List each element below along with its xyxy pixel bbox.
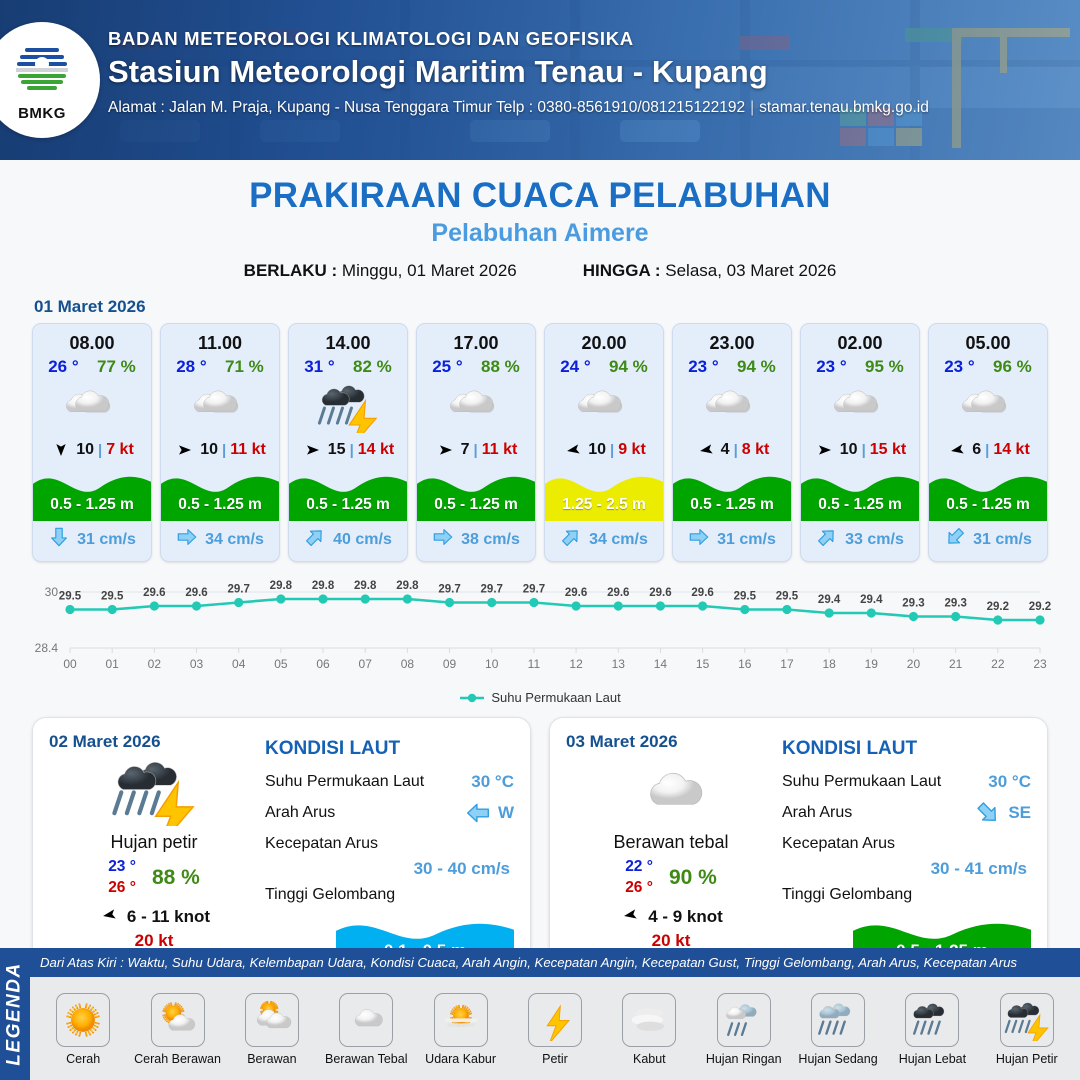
data-label: 29.8 — [396, 580, 419, 592]
data-label: 29.7 — [523, 584, 545, 596]
card-current: 31 cm/s — [929, 521, 1047, 561]
sea-row-value: W — [498, 803, 514, 823]
legend-icon-box — [434, 993, 488, 1047]
card-weather-icon — [673, 379, 791, 435]
legend-caption: Berawan Tebal — [325, 1052, 407, 1066]
address-line: Alamat : Jalan M. Praja, Kupang - Nusa T… — [108, 99, 929, 117]
sea-row-label: Tinggi Gelombang — [265, 886, 514, 904]
card-temp-humidity: 28 ° 71 % — [161, 357, 279, 379]
validity-row: BERLAKU : Minggu, 01 Maret 2026 HINGGA :… — [0, 261, 1080, 281]
data-label: 29.5 — [776, 591, 799, 603]
card-gust: 14 kt — [993, 441, 1029, 459]
card-weather-icon — [801, 379, 919, 435]
day-wind-range: 6 - 11 knot — [127, 907, 210, 927]
sea-condition-row: Tinggi Gelombang — [265, 879, 514, 910]
lightning-icon — [532, 999, 578, 1041]
data-label: 29.3 — [902, 598, 924, 610]
legend-marker-icon — [459, 693, 485, 703]
data-label: 29.5 — [59, 591, 82, 603]
sst-chart: 3028.40001020304050607080910111213141516… — [0, 576, 1080, 686]
card-temperature: 23 ° — [688, 357, 718, 377]
thunderstorm-icon — [111, 756, 197, 826]
wind-direction-icon — [695, 442, 717, 458]
legend-item: Berawan — [229, 993, 315, 1066]
x-tick-label: 06 — [316, 657, 330, 671]
port-name: Pelabuhan Aimere — [0, 219, 1080, 248]
wind-direction-icon — [174, 442, 196, 458]
forecast-card[interactable]: 20.00 24 ° 94 % — [544, 323, 664, 562]
wind-direction-icon — [946, 442, 968, 458]
sea-row-value-arrow: W — [465, 800, 514, 826]
cloudy-icon — [445, 381, 507, 433]
sea-row-value-arrow: SE — [975, 800, 1031, 826]
card-temperature: 23 ° — [944, 357, 974, 377]
card-current-dir — [560, 526, 582, 553]
card-current-speed: 31 cm/s — [973, 531, 1032, 549]
legend-item: Cerah Berawan — [135, 993, 221, 1066]
sea-row-label: Tinggi Gelombang — [782, 886, 1031, 904]
legend-icon-box — [528, 993, 582, 1047]
light-rain-icon — [721, 999, 767, 1041]
card-wind-separator: | — [985, 442, 989, 459]
forecast-card[interactable]: 11.00 28 ° 71 % — [160, 323, 280, 562]
legend-item: Petir — [512, 993, 598, 1066]
legend-item: Hujan Petir — [984, 993, 1070, 1066]
legend-sidebar-label: LEGENDA — [4, 962, 26, 1065]
card-current-dir — [688, 526, 710, 553]
sea-condition-row: Tinggi Gelombang — [782, 879, 1031, 910]
card-current-speed: 31 cm/s — [717, 531, 776, 549]
valid-from-value: Minggu, 01 Maret 2026 — [342, 261, 517, 280]
card-current: 31 cm/s — [673, 521, 791, 561]
card-wind-speed: 10 — [76, 441, 94, 459]
x-tick-label: 21 — [949, 657, 963, 671]
card-gust: 11 kt — [230, 441, 266, 459]
day-temp-max: 26 ° — [625, 878, 653, 899]
x-tick-label: 22 — [991, 657, 1005, 671]
card-wind: 10 | 15 kt — [801, 435, 919, 463]
data-label: 29.6 — [143, 587, 165, 599]
day-humidity: 88 % — [152, 866, 200, 890]
sea-condition-row: Kecepatan Arus — [265, 828, 514, 859]
x-tick-label: 18 — [822, 657, 836, 671]
forecast-card[interactable]: 02.00 23 ° 95 % — [800, 323, 920, 562]
sea-condition-row: Kecepatan Arus — [782, 828, 1031, 859]
sea-row-value: SE — [1008, 803, 1031, 823]
card-current-dir — [816, 526, 838, 553]
current-direction-icon — [432, 526, 454, 548]
address-text: Alamat : Jalan M. Praja, Kupang - Nusa T… — [108, 99, 745, 116]
data-label: 29.7 — [228, 584, 250, 596]
card-gust: 9 kt — [618, 441, 646, 459]
page-header: BMKG BADAN METEOROLOGI KLIMATOLOGI DAN G… — [0, 0, 1080, 160]
x-tick-label: 05 — [274, 657, 288, 671]
current-direction-icon — [560, 526, 582, 548]
sea-condition-row: Suhu Permukaan Laut 30 °C — [782, 766, 1031, 797]
x-tick-label: 07 — [359, 657, 373, 671]
legend-caption: Berawan — [247, 1052, 296, 1066]
card-wave-height: 0.5 - 1.25 m — [673, 496, 791, 514]
legend-icon-box — [622, 993, 676, 1047]
day-summary: 03 Maret 2026 Berawan tebal — [566, 732, 776, 956]
card-wind-speed: 6 — [972, 441, 981, 459]
card-time: 11.00 — [161, 324, 279, 357]
card-weather-icon — [929, 379, 1047, 435]
cloudy-icon — [573, 381, 635, 433]
day-date: 03 Maret 2026 — [566, 732, 678, 752]
day-wind-range: 4 - 9 knot — [648, 907, 723, 927]
card-wind-dir — [302, 442, 324, 458]
day-wind: 6 - 11 knot — [98, 907, 210, 928]
card-wind: 10 | 7 kt — [33, 435, 151, 463]
card-wind-separator: | — [350, 442, 354, 459]
current-direction-icon — [176, 526, 198, 548]
current-direction-icon — [48, 526, 70, 548]
legend-caption: Hujan Sedang — [798, 1052, 877, 1066]
legend-section: LEGENDA Dari Atas Kiri : Waktu, Suhu Uda… — [0, 948, 1080, 1080]
card-wind-separator: | — [734, 442, 738, 459]
card-temp-humidity: 24 ° 94 % — [545, 357, 663, 379]
card-wind-separator: | — [610, 442, 614, 459]
card-current-speed: 38 cm/s — [461, 531, 520, 549]
legend-icon-box — [151, 993, 205, 1047]
day-temp-max: 26 ° — [108, 878, 136, 899]
data-label: 29.6 — [185, 587, 207, 599]
card-wind: 15 | 14 kt — [289, 435, 407, 463]
legend-icon-box — [811, 993, 865, 1047]
card-gust: 8 kt — [742, 441, 770, 459]
cloudy-icon — [701, 381, 763, 433]
heavy-rain-icon — [909, 999, 955, 1041]
data-label: 29.2 — [987, 601, 1009, 613]
card-wave: 1.25 - 2.5 m — [545, 463, 663, 521]
legend-item: Hujan Ringan — [701, 993, 787, 1066]
sun-small-cloud-icon — [155, 999, 201, 1041]
card-current-dir — [432, 526, 454, 553]
wind-direction-icon — [50, 442, 72, 458]
cloudy-icon — [829, 381, 891, 433]
card-wave: 0.5 - 1.25 m — [33, 463, 151, 521]
x-tick-label: 19 — [865, 657, 879, 671]
card-wind-dir — [695, 442, 717, 458]
x-tick-label: 12 — [569, 657, 583, 671]
card-temp-humidity: 31 ° 82 % — [289, 357, 407, 379]
card-temperature: 28 ° — [176, 357, 206, 377]
card-temperature: 24 ° — [560, 357, 590, 377]
card-temperature: 25 ° — [432, 357, 462, 377]
logo-label: BMKG — [18, 105, 66, 122]
card-humidity: 71 % — [225, 357, 264, 377]
data-label: 29.7 — [438, 584, 460, 596]
card-wave-height: 0.5 - 1.25 m — [33, 496, 151, 514]
sun-cloud-icon — [249, 999, 295, 1041]
card-time: 02.00 — [801, 324, 919, 357]
header-text-block: BADAN METEOROLOGI KLIMATOLOGI DAN GEOFIS… — [108, 28, 929, 117]
data-label: 29.4 — [818, 594, 841, 606]
legend-caption: Cerah — [66, 1052, 100, 1066]
card-wind: 10 | 11 kt — [161, 435, 279, 463]
card-time: 05.00 — [929, 324, 1047, 357]
sea-conditions-title: KONDISI LAUT — [782, 738, 1031, 760]
daily-forecast-card[interactable]: 02 Maret 2026 Hujan petir — [32, 717, 531, 969]
wind-direction-icon — [814, 442, 836, 458]
x-tick-label: 15 — [696, 657, 710, 671]
card-wind-speed: 10 — [200, 441, 218, 459]
day-wind-dir — [98, 907, 120, 928]
data-label: 29.8 — [312, 580, 335, 592]
card-temperature: 23 ° — [816, 357, 846, 377]
sun-icon — [60, 999, 106, 1041]
card-temp-humidity: 23 ° 94 % — [673, 357, 791, 379]
sea-row-label: Arah Arus — [265, 804, 465, 822]
current-direction-icon — [944, 526, 966, 548]
card-current-dir — [304, 526, 326, 553]
sea-row-label: Suhu Permukaan Laut — [782, 773, 988, 791]
data-label: 29.5 — [101, 591, 124, 603]
forecast-card[interactable]: 14.00 31 ° 82 % — [288, 323, 408, 562]
card-humidity: 77 % — [97, 357, 136, 377]
wind-direction-icon — [562, 442, 584, 458]
card-current-speed: 33 cm/s — [845, 531, 904, 549]
current-direction-icon — [304, 526, 326, 548]
day-temps: 22 ° 26 ° — [625, 857, 653, 899]
card-current: 33 cm/s — [801, 521, 919, 561]
card-wind-separator: | — [862, 442, 866, 459]
moderate-rain-icon — [815, 999, 861, 1041]
sea-condition-row: Arah Arus W — [265, 797, 514, 828]
card-wind-separator: | — [222, 442, 226, 459]
day-wind-dir — [619, 907, 641, 928]
card-wave: 0.5 - 1.25 m — [801, 463, 919, 521]
card-wind: 4 | 8 kt — [673, 435, 791, 463]
legend-caption: Hujan Lebat — [899, 1052, 966, 1066]
legend-caption: Hujan Petir — [996, 1052, 1058, 1066]
card-wave: 0.5 - 1.25 m — [161, 463, 279, 521]
sea-current-speed: 30 - 41 cm/s — [782, 859, 1031, 879]
daily-forecast-row: 02 Maret 2026 Hujan petir — [0, 705, 1080, 969]
card-wave-height: 0.5 - 1.25 m — [289, 496, 407, 514]
wind-direction-icon — [98, 907, 120, 923]
day-temp-min: 23 ° — [108, 857, 136, 878]
card-time: 17.00 — [417, 324, 535, 357]
card-wave: 0.5 - 1.25 m — [289, 463, 407, 521]
legend-caption: Hujan Ringan — [706, 1052, 782, 1066]
chart-legend: Suhu Permukaan Laut — [0, 690, 1080, 705]
card-wave-height: 0.5 - 1.25 m — [417, 496, 535, 514]
x-tick-label: 16 — [738, 657, 752, 671]
wind-direction-icon — [619, 907, 641, 923]
card-current-dir — [176, 526, 198, 553]
x-tick-label: 09 — [443, 657, 457, 671]
x-tick-label: 20 — [907, 657, 921, 671]
card-wind-separator: | — [474, 442, 478, 459]
forecast-card[interactable]: 08.00 26 ° 77 % — [32, 323, 152, 562]
title-section: PRAKIRAAN CUACA PELABUHAN Pelabuhan Aime… — [0, 160, 1080, 281]
legend-items: Cerah Cerah Berawan — [30, 977, 1080, 1080]
card-current-speed: 34 cm/s — [205, 531, 264, 549]
card-wave-height: 0.5 - 1.25 m — [801, 496, 919, 514]
card-wave-height: 1.25 - 2.5 m — [545, 496, 663, 514]
sea-current-speed: 30 - 40 cm/s — [265, 859, 514, 879]
card-weather-icon — [545, 379, 663, 435]
x-tick-label: 04 — [232, 657, 246, 671]
x-tick-label: 01 — [105, 657, 119, 671]
card-humidity: 95 % — [865, 357, 904, 377]
card-wave-height: 0.5 - 1.25 m — [161, 496, 279, 514]
card-wind-speed: 7 — [461, 441, 470, 459]
y-tick-max: 30 — [45, 585, 59, 599]
card-wind: 7 | 11 kt — [417, 435, 535, 463]
legend-item: Hujan Sedang — [795, 993, 881, 1066]
agency-name: BADAN METEOROLOGI KLIMATOLOGI DAN GEOFIS… — [108, 28, 929, 50]
card-temp-humidity: 25 ° 88 % — [417, 357, 535, 379]
forecast-card[interactable]: 05.00 23 ° 96 % — [928, 323, 1048, 562]
card-temp-humidity: 23 ° 95 % — [801, 357, 919, 379]
legend-note: Dari Atas Kiri : Waktu, Suhu Udara, Kele… — [30, 948, 1080, 977]
legend-item: Berawan Tebal — [323, 993, 409, 1066]
card-temp-humidity: 26 ° 77 % — [33, 357, 151, 379]
day-humidity: 90 % — [669, 866, 717, 890]
legend-icon-box — [905, 993, 959, 1047]
x-tick-label: 00 — [63, 657, 77, 671]
haze-icon — [438, 999, 484, 1041]
data-label: 29.8 — [354, 580, 377, 592]
data-label: 29.6 — [565, 587, 587, 599]
day-date: 02 Maret 2026 — [49, 732, 161, 752]
current-direction-icon — [975, 800, 1001, 826]
card-time: 23.00 — [673, 324, 791, 357]
card-wind-dir — [50, 442, 72, 458]
legend-caption: Cerah Berawan — [134, 1052, 221, 1066]
day-condition: Berawan tebal — [613, 832, 728, 853]
card-gust: 7 kt — [106, 441, 134, 459]
sea-row-label: Suhu Permukaan Laut — [265, 773, 471, 791]
day-summary: 02 Maret 2026 Hujan petir — [49, 732, 259, 956]
card-humidity: 96 % — [993, 357, 1032, 377]
legend-icon-box — [245, 993, 299, 1047]
day-temps: 23 ° 26 ° — [108, 857, 136, 899]
legend-item: Cerah — [40, 993, 126, 1066]
card-wind-dir — [814, 442, 836, 458]
legend-item: Hujan Lebat — [889, 993, 975, 1066]
card-current-dir — [944, 526, 966, 553]
card-wind-separator: | — [98, 442, 102, 459]
legend-item: Udara Kabur — [418, 993, 504, 1066]
card-gust: 15 kt — [870, 441, 906, 459]
hourly-date-label: 01 Maret 2026 — [34, 297, 1080, 317]
day-weather-icon — [628, 754, 714, 828]
x-tick-label: 02 — [148, 657, 162, 671]
x-tick-label: 10 — [485, 657, 499, 671]
data-label: 29.2 — [1029, 601, 1051, 613]
card-gust: 11 kt — [482, 441, 518, 459]
card-humidity: 88 % — [481, 357, 520, 377]
card-current-speed: 40 cm/s — [333, 531, 392, 549]
valid-from: BERLAKU : Minggu, 01 Maret 2026 — [244, 261, 517, 281]
x-tick-label: 23 — [1033, 657, 1047, 671]
card-gust: 14 kt — [358, 441, 394, 459]
chart-legend-label: Suhu Permukaan Laut — [491, 690, 620, 705]
card-current-speed: 31 cm/s — [77, 531, 136, 549]
day-temp-min: 22 ° — [625, 857, 653, 878]
fog-icon — [626, 999, 672, 1041]
sea-conditions: KONDISI LAUT Suhu Permukaan Laut 30 °C A… — [776, 732, 1031, 956]
card-weather-icon — [161, 379, 279, 435]
x-tick-label: 13 — [612, 657, 626, 671]
day-condition: Hujan petir — [110, 832, 197, 853]
card-wind-speed: 10 — [840, 441, 858, 459]
card-current: 34 cm/s — [545, 521, 663, 561]
data-label: 29.5 — [734, 591, 757, 603]
legend-item: Kabut — [606, 993, 692, 1066]
sea-row-label: Kecepatan Arus — [265, 835, 514, 853]
cloudy-icon — [61, 381, 123, 433]
current-direction-icon — [465, 800, 491, 826]
card-current: 40 cm/s — [289, 521, 407, 561]
sst-chart-svg: 3028.40001020304050607080910111213141516… — [0, 576, 1080, 686]
day-temp-humidity: 22 ° 26 ° 90 % — [625, 857, 717, 899]
overcast-icon — [628, 756, 714, 826]
forecast-card[interactable]: 17.00 25 ° 88 % — [416, 323, 536, 562]
day-temp-humidity: 23 ° 26 ° 88 % — [108, 857, 200, 899]
station-name: Stasiun Meteorologi Maritim Tenau - Kupa… — [108, 54, 929, 90]
card-wind-dir — [562, 442, 584, 458]
valid-until-value: Selasa, 03 Maret 2026 — [665, 261, 836, 280]
website-text: stamar.tenau.bmkg.go.id — [759, 99, 929, 116]
card-current: 34 cm/s — [161, 521, 279, 561]
sea-conditions: KONDISI LAUT Suhu Permukaan Laut 30 °C A… — [259, 732, 514, 956]
card-humidity: 82 % — [353, 357, 392, 377]
sea-row-label: Arah Arus — [782, 804, 975, 822]
card-weather-icon — [417, 379, 535, 435]
current-direction-icon — [688, 526, 710, 548]
thunderstorm-icon — [317, 381, 379, 433]
wind-direction-icon — [435, 442, 457, 458]
valid-until-label: HINGGA : — [583, 261, 661, 280]
card-wind: 6 | 14 kt — [929, 435, 1047, 463]
bmkg-emblem-icon — [9, 38, 75, 104]
daily-forecast-card[interactable]: 03 Maret 2026 Berawan tebal — [549, 717, 1048, 969]
card-temp-humidity: 23 ° 96 % — [929, 357, 1047, 379]
sea-conditions-title: KONDISI LAUT — [265, 738, 514, 760]
current-direction-icon — [816, 526, 838, 548]
card-wind-dir — [435, 442, 457, 458]
card-weather-icon — [33, 379, 151, 435]
cloudy-icon — [189, 381, 251, 433]
card-current: 38 cm/s — [417, 521, 535, 561]
legend-caption: Udara Kabur — [425, 1052, 496, 1066]
data-label: 29.4 — [860, 594, 883, 606]
sea-row-value: 30 °C — [471, 772, 514, 792]
data-label: 29.7 — [481, 584, 503, 596]
forecast-card[interactable]: 23.00 23 ° 94 % — [672, 323, 792, 562]
card-wind-speed: 15 — [328, 441, 346, 459]
sea-row-value: 30 °C — [988, 772, 1031, 792]
x-tick-label: 03 — [190, 657, 204, 671]
card-wave: 0.5 - 1.25 m — [673, 463, 791, 521]
sea-condition-row: Arah Arus SE — [782, 797, 1031, 828]
legend-icon-box — [56, 993, 110, 1047]
card-humidity: 94 % — [737, 357, 776, 377]
cloudy-icon — [957, 381, 1019, 433]
legend-icon-box — [1000, 993, 1054, 1047]
legend-main: Dari Atas Kiri : Waktu, Suhu Udara, Kele… — [30, 948, 1080, 1080]
address-separator: | — [745, 99, 759, 116]
data-label: 29.6 — [649, 587, 671, 599]
day-wind: 4 - 9 knot — [619, 907, 723, 928]
card-time: 14.00 — [289, 324, 407, 357]
card-wave-height: 0.5 - 1.25 m — [929, 496, 1047, 514]
